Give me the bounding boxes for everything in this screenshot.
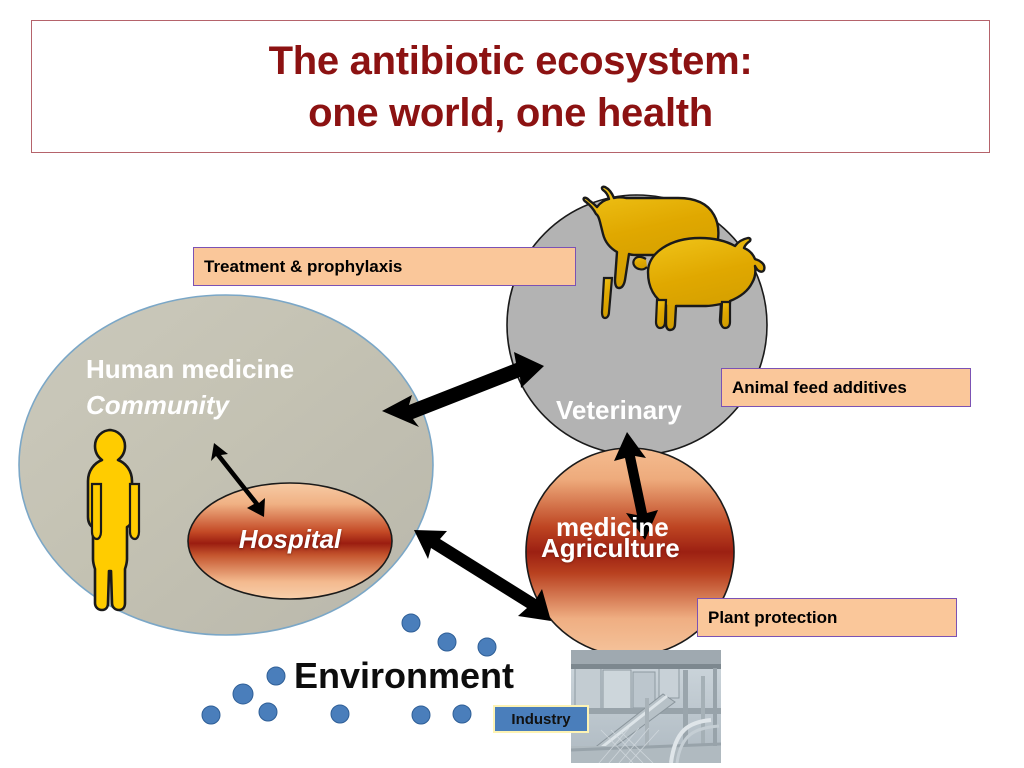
- callout-industry[interactable]: Industry: [493, 705, 589, 733]
- environment-dot: [267, 667, 285, 685]
- environment-dot: [202, 706, 220, 724]
- slide-canvas: The antibiotic ecosystem: one world, one…: [0, 0, 1024, 768]
- environment-dot: [412, 706, 430, 724]
- environment-label: Environment: [294, 655, 514, 697]
- environment-dot: [233, 684, 253, 704]
- callout-treatment-prophylaxis[interactable]: Treatment & prophylaxis: [193, 247, 576, 286]
- environment-dot: [259, 703, 277, 721]
- environment-dot: [453, 705, 471, 723]
- environment-dot: [402, 614, 420, 632]
- environment-dot: [331, 705, 349, 723]
- environment-dot: [478, 638, 496, 656]
- environment-dot: [438, 633, 456, 651]
- callout-animal-feed-additives[interactable]: Animal feed additives: [721, 368, 971, 407]
- callout-plant-protection[interactable]: Plant protection: [697, 598, 957, 637]
- hospital-ellipse[interactable]: [188, 483, 392, 599]
- industry-photo: [571, 650, 721, 763]
